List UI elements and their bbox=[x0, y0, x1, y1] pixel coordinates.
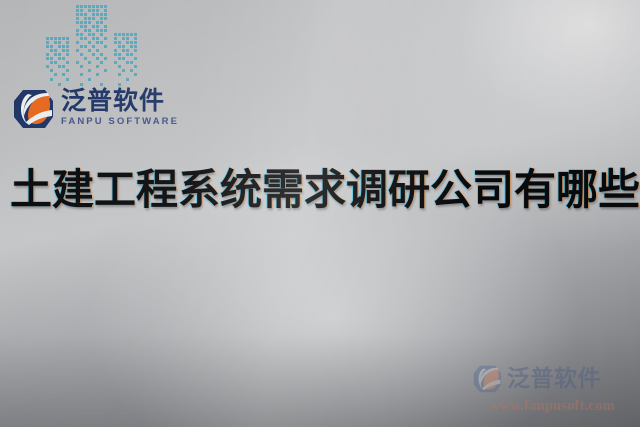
fanpu-hexagon-swoosh-logo-icon bbox=[472, 365, 502, 393]
watermark-url: www.fanpusoft.com bbox=[472, 398, 632, 415]
watermark-name-cn: 泛普软件 bbox=[507, 368, 601, 391]
logo-text-block: 泛普软件 FANPU SOFTWARE bbox=[61, 88, 179, 127]
poster-canvas: 泛普软件 FANPU SOFTWARE 土建工程系统需求调研公司有哪些 泛普软件… bbox=[0, 0, 640, 427]
pixel-buildings-graphic bbox=[33, 2, 141, 90]
company-logo: 泛普软件 FANPU SOFTWARE bbox=[12, 88, 192, 136]
watermark: 泛普软件 www.fanpusoft.com bbox=[472, 361, 632, 419]
logo-name-cn: 泛普软件 bbox=[61, 88, 179, 113]
watermark-logo-row: 泛普软件 bbox=[472, 361, 632, 397]
logo-name-en: FANPU SOFTWARE bbox=[61, 117, 179, 127]
fanpu-hexagon-swoosh-logo-icon bbox=[12, 89, 54, 129]
pixel-buildings-icon bbox=[33, 2, 141, 90]
page-title: 土建工程系统需求调研公司有哪些 bbox=[10, 168, 632, 213]
